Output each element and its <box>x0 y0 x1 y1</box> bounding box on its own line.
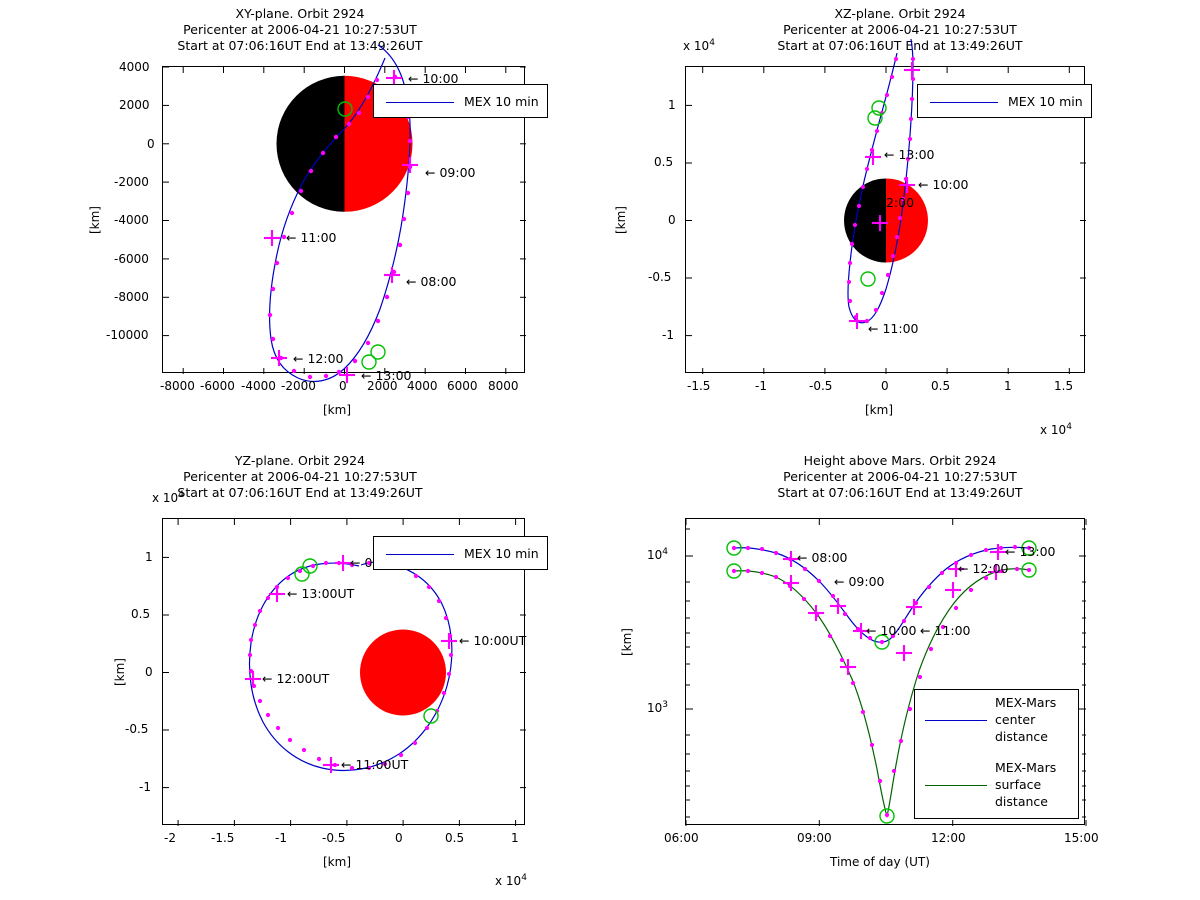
annotation-1100ut: ← 11:00UT <box>341 757 408 772</box>
annotation-1200: ← 12:00 <box>958 561 1008 576</box>
panel-xz-plane: XZ-plane. Orbit 2924 Pericenter at 2006-… <box>600 0 1200 440</box>
legend-line-surface <box>925 785 987 786</box>
ytick-label: -8000 <box>114 290 149 304</box>
ytick-label: 1 <box>145 550 153 564</box>
legend-xy[interactable]: MEX 10 min <box>373 84 548 118</box>
xtick-label: -6000 <box>200 379 235 393</box>
panel-height-above-mars: Height above Mars. Orbit 2924 Pericenter… <box>600 440 1200 900</box>
panel-title: XY-plane. Orbit 2924 Pericenter at 2006-… <box>0 6 600 54</box>
plot-area-xz: ← 13:00 ← 10:00 12:00 ← 11:00 MEX 10 min <box>685 66 1085 373</box>
panel-yz-plane: YZ-plane. Orbit 2924 Pericenter at 2006-… <box>0 440 600 900</box>
ytick-label-1e4: 104 <box>647 547 668 562</box>
xaxis-label: [km] <box>323 403 351 417</box>
xtick-label: 2000 <box>367 379 398 393</box>
legend-height[interactable]: MEX-Mars center distance MEX-Mars surfac… <box>914 689 1079 819</box>
legend-label-surface-3: distance <box>995 794 1048 809</box>
ytick-label: -4000 <box>114 213 149 227</box>
mars-body <box>360 630 446 716</box>
ytick-label: -0.5 <box>125 722 148 736</box>
annotation-1100: ← 11:00 <box>286 230 336 245</box>
ytick-label: -10000 <box>106 328 149 342</box>
legend-label-center-2: center <box>995 712 1035 727</box>
xtick-label: -1.5 <box>211 831 234 845</box>
legend-line-mex <box>386 554 454 555</box>
ytick-label: 0 <box>147 137 155 151</box>
annotation-0900: ← 09:00 <box>834 574 884 589</box>
annotation-1000: ← 10:00 <box>918 177 968 192</box>
annotation-1000ut: ← 10:00UT <box>459 633 526 648</box>
annotation-1000: ← 10:00 <box>866 623 916 638</box>
legend-label-center-1: MEX-Mars <box>995 695 1056 710</box>
legend-yz[interactable]: MEX 10 min <box>373 536 548 570</box>
ytick-label-1e3: 103 <box>647 700 668 715</box>
xtick-label: -1 <box>755 379 767 393</box>
xaxis-label: Time of day (UT) <box>830 855 930 869</box>
xtick-label: -2 <box>164 831 176 845</box>
plot-area-height: ← 08:00 ← 09:00 ← 10:00 ← 11:00 ← 12:00 … <box>685 518 1085 825</box>
xtick-label: -1 <box>275 831 287 845</box>
xtick-label: 09:00 <box>797 831 832 845</box>
annotation-1200: 12:00 <box>878 195 914 210</box>
yaxis-multiplier: x 104 <box>683 38 715 53</box>
annotation-1200ut: ← 12:00UT <box>262 671 329 686</box>
legend-line-center <box>925 720 987 721</box>
legend-label-surface-1: MEX-Mars <box>995 760 1056 775</box>
annotation-1300: ← 13:00 <box>1005 544 1055 559</box>
xtick-label: 12:00 <box>931 831 966 845</box>
xtick-label: -1.5 <box>687 379 710 393</box>
xaxis-label: [km] <box>323 855 351 869</box>
xtick-label: 0 <box>881 379 889 393</box>
yaxis-label: [km] <box>88 200 102 240</box>
legend-xz[interactable]: MEX 10 min <box>917 84 1092 118</box>
ytick-label: 2000 <box>119 98 150 112</box>
xtick-label: -4000 <box>241 379 276 393</box>
annotation-0800: ← 08:00 <box>797 550 847 565</box>
xaxis-multiplier: x 104 <box>1040 422 1072 437</box>
annotation-1300ut: ← 13:00UT <box>287 586 354 601</box>
xtick-label: -2000 <box>281 379 316 393</box>
annotation-1300: ← 13:00 <box>884 147 934 162</box>
xtick-label: 1.5 <box>1054 379 1073 393</box>
xtick-label: 6000 <box>447 379 478 393</box>
annotation-1100: ← 11:00 <box>920 623 970 638</box>
legend-line-mex <box>386 102 454 103</box>
legend-label-mex: MEX 10 min <box>1008 94 1083 109</box>
plot-area-xy: ← 10:00 ← 09:00 ← 11:00 ← 08:00 ← 12:00 … <box>162 66 525 373</box>
xtick-label: 1 <box>511 831 519 845</box>
legend-label-surface-2: surface <box>995 777 1041 792</box>
ytick-label: -1 <box>662 328 674 342</box>
annotation-1100: ← 11:00 <box>868 321 918 336</box>
xtick-label: 1 <box>1004 379 1012 393</box>
xtick-label: 0 <box>339 379 347 393</box>
legend-label-center-3: distance <box>995 729 1048 744</box>
legend-line-mex <box>930 102 998 103</box>
panel-title: YZ-plane. Orbit 2924 Pericenter at 2006-… <box>0 453 600 501</box>
xaxis-multiplier: x 104 <box>495 873 527 888</box>
annotation-0800: ← 08:00 <box>406 274 456 289</box>
ytick-label: -0.5 <box>648 270 671 284</box>
xaxis-label: [km] <box>865 403 893 417</box>
ytick-label: 0 <box>145 665 153 679</box>
ytick-label: 4000 <box>119 60 150 74</box>
panel-xy-plane: XY-plane. Orbit 2924 Pericenter at 2006-… <box>0 0 600 440</box>
ytick-label: 1 <box>668 98 676 112</box>
xtick-label: 8000 <box>488 379 519 393</box>
ytick-label: 0.5 <box>131 607 150 621</box>
annotation-0900: ← 09:00 <box>425 165 475 180</box>
ytick-label: -2000 <box>114 175 149 189</box>
annotation-1200: ← 12:00 <box>293 351 343 366</box>
xtick-label: 4000 <box>407 379 438 393</box>
ytick-label: 0.5 <box>654 155 673 169</box>
legend-label-mex: MEX 10 min <box>464 94 539 109</box>
yaxis-label: [km] <box>620 622 634 662</box>
ytick-label: 0 <box>668 213 676 227</box>
plot-area-yz: ← 08:00UT ← 13:00UT ← 12:00UT ← 10:00UT … <box>162 518 525 825</box>
xtick-label: 0 <box>395 831 403 845</box>
xtick-label: -0.5 <box>809 379 832 393</box>
panel-title: Height above Mars. Orbit 2924 Pericenter… <box>600 453 1200 501</box>
xtick-label: 06:00 <box>664 831 699 845</box>
ytick-label: -1 <box>139 780 151 794</box>
yaxis-label: [km] <box>614 200 628 240</box>
xtick-label: -8000 <box>160 379 195 393</box>
xtick-label: 0.5 <box>931 379 950 393</box>
xtick-label: -0.5 <box>322 831 345 845</box>
xtick-label: 0.5 <box>445 831 464 845</box>
yaxis-label: [km] <box>113 652 127 692</box>
legend-label-mex: MEX 10 min <box>464 546 539 561</box>
yaxis-multiplier: x 104 <box>152 490 184 505</box>
xtick-label: 15:00 <box>1064 831 1099 845</box>
ytick-label: -6000 <box>114 252 149 266</box>
